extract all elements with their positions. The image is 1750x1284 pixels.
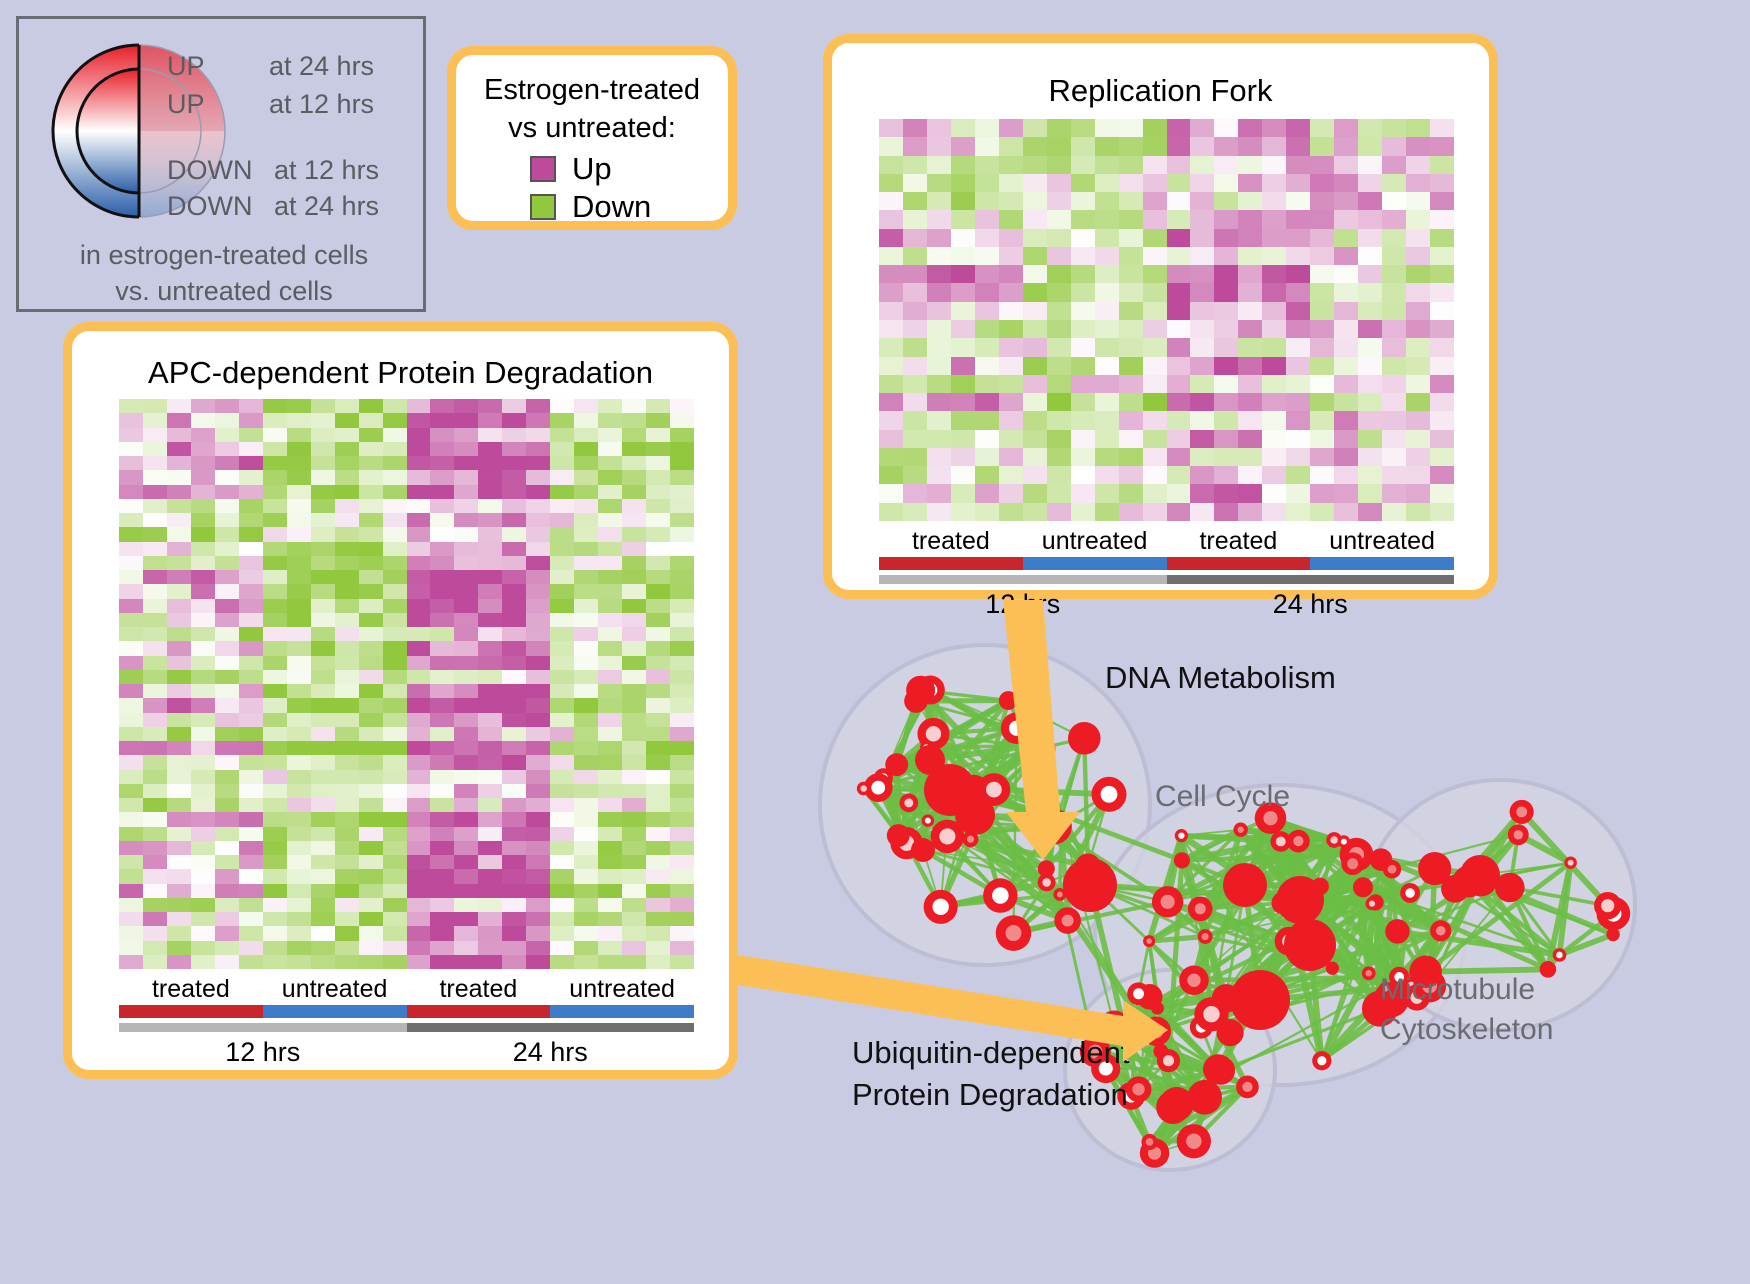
heatmap-cell bbox=[927, 265, 951, 283]
heatmap-cell bbox=[1047, 375, 1071, 393]
heatmap-cell bbox=[454, 812, 478, 826]
heatmap-cell bbox=[359, 413, 383, 427]
heatmap-cell bbox=[143, 713, 167, 727]
heatmap-cell bbox=[670, 627, 694, 641]
heatmap-cell bbox=[383, 741, 407, 755]
heatmap-cell bbox=[646, 941, 670, 955]
heatmap-cell bbox=[1143, 119, 1167, 137]
heatmap-cell bbox=[1047, 302, 1071, 320]
network-node[interactable] bbox=[1430, 920, 1451, 941]
heatmap-cell bbox=[1143, 247, 1167, 265]
heatmap-cell bbox=[879, 393, 903, 411]
heatmap-cell bbox=[407, 841, 431, 855]
heatmap-cell bbox=[951, 192, 975, 210]
heatmap-cell bbox=[502, 884, 526, 898]
network-node[interactable] bbox=[1312, 1051, 1331, 1070]
heatmap-cell bbox=[1310, 430, 1334, 448]
heatmap-cell bbox=[383, 641, 407, 655]
heatmap-cell bbox=[574, 812, 598, 826]
heatmap-cell bbox=[430, 898, 454, 912]
heatmap-cell bbox=[454, 613, 478, 627]
heatmap-cell bbox=[526, 827, 550, 841]
heatmap-cell bbox=[430, 941, 454, 955]
heatmap-cell bbox=[975, 137, 999, 155]
heatmap-cell bbox=[502, 542, 526, 556]
heatmap-cell bbox=[478, 727, 502, 741]
network-node[interactable] bbox=[1510, 800, 1534, 824]
heatmap-cell bbox=[335, 513, 359, 527]
heatmap-cell bbox=[239, 556, 263, 570]
network-node[interactable] bbox=[999, 691, 1018, 710]
heatmap-cell bbox=[167, 741, 191, 755]
network-node[interactable] bbox=[911, 838, 935, 862]
network-node[interactable] bbox=[1276, 876, 1324, 924]
heatmap-cell bbox=[239, 499, 263, 513]
heatmap-cell bbox=[526, 869, 550, 883]
heatmap-cell bbox=[454, 670, 478, 684]
heatmap-cell bbox=[119, 713, 143, 727]
heatmap-cell bbox=[1286, 411, 1310, 429]
heatmap-cell bbox=[1167, 411, 1191, 429]
heatmap-cell bbox=[407, 884, 431, 898]
heatmap-cell bbox=[879, 338, 903, 356]
heatmap-cell bbox=[646, 470, 670, 484]
heatmap-cell bbox=[1167, 283, 1191, 301]
network-node[interactable] bbox=[1353, 877, 1373, 897]
sample-colorbar-seg bbox=[1167, 557, 1311, 570]
heatmap-cell bbox=[1238, 302, 1262, 320]
network-node[interactable] bbox=[1156, 1090, 1190, 1124]
heatmap-cell bbox=[622, 784, 646, 798]
heatmap-cell bbox=[383, 770, 407, 784]
heatmap-cell bbox=[1119, 320, 1143, 338]
heatmap-cell bbox=[407, 456, 431, 470]
heatmap-cell bbox=[311, 855, 335, 869]
heatmap-cell bbox=[598, 855, 622, 869]
heatmap-cell bbox=[550, 513, 574, 527]
heatmap-cell bbox=[1238, 192, 1262, 210]
heatmap-cell bbox=[574, 470, 598, 484]
heatmap-cell bbox=[1358, 229, 1382, 247]
heatmap-cell bbox=[927, 466, 951, 484]
network-node[interactable] bbox=[1287, 830, 1310, 853]
network-node[interactable] bbox=[922, 814, 934, 826]
heatmap-cell bbox=[311, 798, 335, 812]
heatmap-cell bbox=[430, 741, 454, 755]
network-node[interactable] bbox=[996, 915, 1032, 951]
network-node[interactable] bbox=[1606, 928, 1619, 941]
network-node[interactable] bbox=[1054, 907, 1081, 934]
network-node[interactable] bbox=[915, 745, 945, 775]
heatmap-cell bbox=[550, 884, 574, 898]
network-node[interactable] bbox=[1508, 824, 1529, 845]
network-node[interactable] bbox=[1127, 982, 1150, 1005]
heatmap-cell bbox=[646, 884, 670, 898]
network-node[interactable] bbox=[1362, 966, 1376, 980]
heatmap-cell bbox=[1382, 156, 1406, 174]
heatmap-cell bbox=[143, 456, 167, 470]
heatmap-cell bbox=[903, 338, 927, 356]
heatmap-cell bbox=[239, 527, 263, 541]
network-node[interactable] bbox=[1385, 919, 1409, 943]
heatmap-cell bbox=[1214, 320, 1238, 338]
heatmap-cell bbox=[311, 784, 335, 798]
heatmap-cell bbox=[191, 584, 215, 598]
heatmap-cell bbox=[646, 926, 670, 940]
heatmap-cell bbox=[502, 827, 526, 841]
heatmap-cell bbox=[143, 869, 167, 883]
heatmap-cell bbox=[1262, 466, 1286, 484]
heatmap-cell bbox=[478, 627, 502, 641]
up-label: Up bbox=[572, 151, 612, 187]
network-node[interactable] bbox=[983, 878, 1017, 912]
heatmap-cell bbox=[1167, 174, 1191, 192]
heatmap-cell bbox=[263, 755, 287, 769]
heatmap-cell bbox=[903, 247, 927, 265]
heatmap-cell bbox=[1358, 137, 1382, 155]
wheel-label-down-24: DOWN bbox=[167, 191, 252, 222]
heatmap-cell bbox=[622, 698, 646, 712]
heatmap-cell bbox=[903, 430, 927, 448]
heatmap-cell bbox=[574, 485, 598, 499]
heatmap-cell bbox=[1262, 229, 1286, 247]
heatmap-cell bbox=[1047, 393, 1071, 411]
heatmap-cell bbox=[502, 442, 526, 456]
heatmap-cell bbox=[903, 283, 927, 301]
network-node[interactable] bbox=[1126, 1076, 1152, 1102]
heatmap-cell bbox=[263, 442, 287, 456]
heatmap-cell bbox=[1262, 338, 1286, 356]
network-node[interactable] bbox=[1177, 1124, 1211, 1158]
heatmap-cell bbox=[1023, 448, 1047, 466]
heatmap-cell bbox=[215, 570, 239, 584]
heatmap-cell bbox=[879, 192, 903, 210]
heatmap-cell bbox=[383, 670, 407, 684]
network-node[interactable] bbox=[1236, 1076, 1259, 1099]
heatmap-cell bbox=[454, 684, 478, 698]
heatmap-cell bbox=[407, 485, 431, 499]
heatmap-cell bbox=[478, 542, 502, 556]
network-node[interactable] bbox=[1284, 919, 1336, 971]
network-node[interactable] bbox=[1418, 852, 1451, 885]
heatmap-cell bbox=[191, 784, 215, 798]
heatmap-cell bbox=[311, 656, 335, 670]
network-node[interactable] bbox=[1460, 855, 1500, 895]
network-node[interactable] bbox=[1223, 863, 1267, 907]
network-node[interactable] bbox=[1198, 929, 1213, 944]
network-node[interactable] bbox=[1179, 965, 1209, 995]
heatmap-cell bbox=[287, 513, 311, 527]
heatmap-cell bbox=[430, 713, 454, 727]
time-label: 12 hrs bbox=[119, 1037, 407, 1068]
heatmap-cell bbox=[622, 941, 646, 955]
network-node[interactable] bbox=[1233, 823, 1247, 837]
network-node[interactable] bbox=[924, 890, 958, 924]
heatmap-cell bbox=[1167, 210, 1191, 228]
heatmap-cell bbox=[359, 898, 383, 912]
heatmap-cell bbox=[119, 542, 143, 556]
heatmap-cell bbox=[430, 926, 454, 940]
heatmap-cell bbox=[119, 741, 143, 755]
network-node[interactable] bbox=[1068, 722, 1101, 755]
heatmap-cell bbox=[622, 898, 646, 912]
heatmap-cell bbox=[1167, 137, 1191, 155]
heatmap-cell bbox=[646, 556, 670, 570]
network-node[interactable] bbox=[1203, 1054, 1233, 1084]
network-node[interactable] bbox=[1028, 735, 1055, 762]
heatmap-cell bbox=[1262, 156, 1286, 174]
heatmap-cell bbox=[143, 827, 167, 841]
network-node[interactable] bbox=[1553, 948, 1567, 962]
heatmap-cell bbox=[191, 627, 215, 641]
heatmap-cell bbox=[311, 926, 335, 940]
sample-label: untreated bbox=[263, 975, 407, 1004]
network-node[interactable] bbox=[1143, 935, 1155, 947]
heatmap-cell bbox=[550, 713, 574, 727]
heatmap-cell bbox=[622, 841, 646, 855]
heatmap-cell bbox=[119, 755, 143, 769]
heatmap-cell bbox=[167, 727, 191, 741]
heatmap-cell bbox=[311, 470, 335, 484]
heatmap-cell bbox=[670, 527, 694, 541]
heatmap-cell bbox=[999, 247, 1023, 265]
heatmap-cell bbox=[167, 499, 191, 513]
heatmap-cell bbox=[1430, 156, 1454, 174]
heatmap-cell bbox=[1382, 265, 1406, 283]
heatmap-cell bbox=[550, 470, 574, 484]
heatmap-cell bbox=[191, 741, 215, 755]
heatmap-cell bbox=[239, 613, 263, 627]
network-node[interactable] bbox=[1365, 897, 1378, 910]
heatmap-cell bbox=[263, 841, 287, 855]
heatmap-cell bbox=[478, 413, 502, 427]
heatmap-cell bbox=[903, 320, 927, 338]
network-node[interactable] bbox=[1341, 852, 1364, 875]
network-node[interactable] bbox=[1188, 896, 1213, 921]
heatmap-cell bbox=[383, 499, 407, 513]
heatmap-cell bbox=[167, 898, 191, 912]
heatmap-cell bbox=[1358, 247, 1382, 265]
heatmap-cell bbox=[574, 513, 598, 527]
heatmap-cell bbox=[951, 338, 975, 356]
heatmap-cell bbox=[670, 713, 694, 727]
heatmap-cell bbox=[383, 912, 407, 926]
heatmap-cell bbox=[1358, 338, 1382, 356]
heatmap-cell bbox=[454, 898, 478, 912]
heatmap-cell bbox=[903, 411, 927, 429]
heatmap-cell bbox=[335, 941, 359, 955]
network-node[interactable] bbox=[1175, 829, 1188, 842]
heatmap-cell bbox=[879, 247, 903, 265]
heatmap-cell bbox=[646, 912, 670, 926]
heatmap-cell bbox=[574, 827, 598, 841]
network-node[interactable] bbox=[1152, 886, 1183, 917]
heatmap-cell bbox=[1143, 320, 1167, 338]
network-node[interactable] bbox=[1141, 1134, 1157, 1150]
heatmap-cell bbox=[287, 584, 311, 598]
sample-label: treated bbox=[1167, 527, 1311, 556]
heatmap-cell bbox=[1214, 484, 1238, 502]
heatmap-cell bbox=[311, 869, 335, 883]
heatmap-cell bbox=[119, 670, 143, 684]
network-node[interactable] bbox=[1196, 1087, 1218, 1109]
cluster-label-dna-metabolism: DNA Metabolism bbox=[1105, 660, 1336, 696]
heatmap-cell bbox=[454, 770, 478, 784]
heatmap-cell bbox=[335, 798, 359, 812]
heatmap-cell bbox=[574, 698, 598, 712]
heatmap-cell bbox=[143, 855, 167, 869]
heatmap-cell bbox=[1334, 302, 1358, 320]
heatmap-cell bbox=[430, 755, 454, 769]
heatmap-cell bbox=[215, 599, 239, 613]
network-node[interactable] bbox=[887, 824, 910, 847]
time-labels-apc: 12 hrs 24 hrs bbox=[119, 1037, 694, 1068]
heatmap-cell bbox=[1047, 156, 1071, 174]
heatmap-cell bbox=[526, 698, 550, 712]
heatmap-cell bbox=[1047, 119, 1071, 137]
heatmap-cell bbox=[1310, 283, 1334, 301]
heatmap-cell bbox=[311, 941, 335, 955]
heatmap-cell bbox=[119, 442, 143, 456]
heatmap-cell bbox=[1310, 265, 1334, 283]
network-node[interactable] bbox=[1564, 856, 1576, 868]
heatmap-cell bbox=[1047, 357, 1071, 375]
heatmap-cell bbox=[311, 827, 335, 841]
heatmap-cell bbox=[1071, 156, 1095, 174]
heatmap-cell bbox=[550, 869, 574, 883]
network-node[interactable] bbox=[1383, 860, 1401, 878]
heatmap-cell bbox=[430, 784, 454, 798]
heatmap-cell bbox=[526, 470, 550, 484]
heatmap-cell bbox=[526, 499, 550, 513]
heatmap-cell bbox=[670, 599, 694, 613]
heatmap-cell bbox=[598, 428, 622, 442]
heatmap-cell bbox=[191, 641, 215, 655]
heatmap-cell bbox=[239, 827, 263, 841]
heatmap-cell bbox=[263, 884, 287, 898]
heatmap-cell bbox=[119, 841, 143, 855]
heatmap-cell bbox=[359, 485, 383, 499]
heatmap-cell bbox=[454, 926, 478, 940]
heatmap-cell bbox=[622, 570, 646, 584]
heatmap-cell bbox=[1119, 430, 1143, 448]
heatmap-cell bbox=[1286, 156, 1310, 174]
heatmap-cell bbox=[670, 926, 694, 940]
network-node[interactable] bbox=[906, 676, 935, 705]
network-node[interactable] bbox=[1594, 892, 1621, 919]
heatmap-cell bbox=[1143, 448, 1167, 466]
heatmap-cell bbox=[670, 898, 694, 912]
heatmap-cell bbox=[143, 841, 167, 855]
sample-label: treated bbox=[407, 975, 551, 1004]
heatmap-cell bbox=[999, 357, 1023, 375]
network-node[interactable] bbox=[1400, 883, 1420, 903]
heatmap-cell bbox=[622, 399, 646, 413]
heatmap-cell bbox=[311, 898, 335, 912]
heatmap-cell bbox=[622, 884, 646, 898]
heatmap-cell bbox=[191, 656, 215, 670]
heatmap-cell bbox=[1214, 192, 1238, 210]
heatmap-cell bbox=[359, 627, 383, 641]
network-node[interactable] bbox=[1157, 1049, 1180, 1072]
heatmap-cell bbox=[1406, 430, 1430, 448]
heatmap-cell bbox=[287, 798, 311, 812]
network-node[interactable] bbox=[857, 782, 871, 796]
heatmap-cell bbox=[430, 442, 454, 456]
heatmap-cell bbox=[311, 812, 335, 826]
heatmap-cell bbox=[1095, 229, 1119, 247]
heatmap-cell bbox=[454, 912, 478, 926]
heatmap-cell bbox=[975, 119, 999, 137]
time-colorbar-seg bbox=[1167, 575, 1455, 584]
heatmap-cell bbox=[1358, 448, 1382, 466]
network-node[interactable] bbox=[1217, 1019, 1244, 1046]
heatmap-cell bbox=[239, 627, 263, 641]
heatmap-cell bbox=[927, 229, 951, 247]
heatmap-cell bbox=[1047, 229, 1071, 247]
heatmap-cell bbox=[1190, 210, 1214, 228]
heatmap-cell bbox=[239, 670, 263, 684]
heatmap-cell bbox=[311, 698, 335, 712]
heatmap-cell bbox=[1382, 393, 1406, 411]
sample-colorbar-seg bbox=[407, 1005, 551, 1018]
heatmap-cell bbox=[478, 898, 502, 912]
heatmap-cell bbox=[1214, 283, 1238, 301]
heatmap-cell bbox=[646, 499, 670, 513]
sample-colorbar-seg bbox=[550, 1005, 694, 1018]
heatmap-cell bbox=[1406, 283, 1430, 301]
heatmap-cell bbox=[1238, 119, 1262, 137]
heatmap-cell bbox=[1238, 338, 1262, 356]
sample-label: untreated bbox=[1023, 527, 1167, 556]
heatmap-cell bbox=[975, 320, 999, 338]
network-node[interactable] bbox=[899, 793, 918, 812]
heatmap-cell bbox=[263, 798, 287, 812]
heatmap-cell bbox=[478, 670, 502, 684]
heatmap-cell bbox=[311, 613, 335, 627]
heatmap-cell bbox=[1238, 430, 1262, 448]
heatmap-cell bbox=[359, 584, 383, 598]
heatmap-cell bbox=[1358, 302, 1382, 320]
network-node[interactable] bbox=[1091, 777, 1126, 812]
heatmap-cell bbox=[1310, 375, 1334, 393]
heatmap-cell bbox=[574, 670, 598, 684]
heatmap-cell bbox=[215, 812, 239, 826]
heatmap-cell bbox=[574, 884, 598, 898]
heatmap-cell bbox=[119, 941, 143, 955]
heatmap-cell bbox=[239, 912, 263, 926]
heatmap-cell bbox=[191, 485, 215, 499]
heatmap-cell bbox=[191, 926, 215, 940]
network-node[interactable] bbox=[955, 795, 995, 835]
network-node[interactable] bbox=[1038, 860, 1055, 877]
heatmap-cell bbox=[903, 503, 927, 521]
network-node[interactable] bbox=[885, 753, 908, 776]
heatmap-cell bbox=[1382, 338, 1406, 356]
network-node[interactable] bbox=[1174, 852, 1190, 868]
heatmap-cell bbox=[550, 413, 574, 427]
heatmap-cell bbox=[383, 599, 407, 613]
network-node[interactable] bbox=[1036, 809, 1072, 845]
updown-legend-title: Estrogen-treated vs untreated: bbox=[456, 71, 728, 147]
heatmap-cell bbox=[239, 784, 263, 798]
network-node[interactable] bbox=[1230, 970, 1290, 1030]
network-node[interactable] bbox=[1063, 858, 1117, 912]
heatmap-cell bbox=[263, 812, 287, 826]
network-node[interactable] bbox=[1142, 1017, 1171, 1046]
network-node[interactable] bbox=[1338, 835, 1351, 848]
heatmap-cell bbox=[454, 570, 478, 584]
